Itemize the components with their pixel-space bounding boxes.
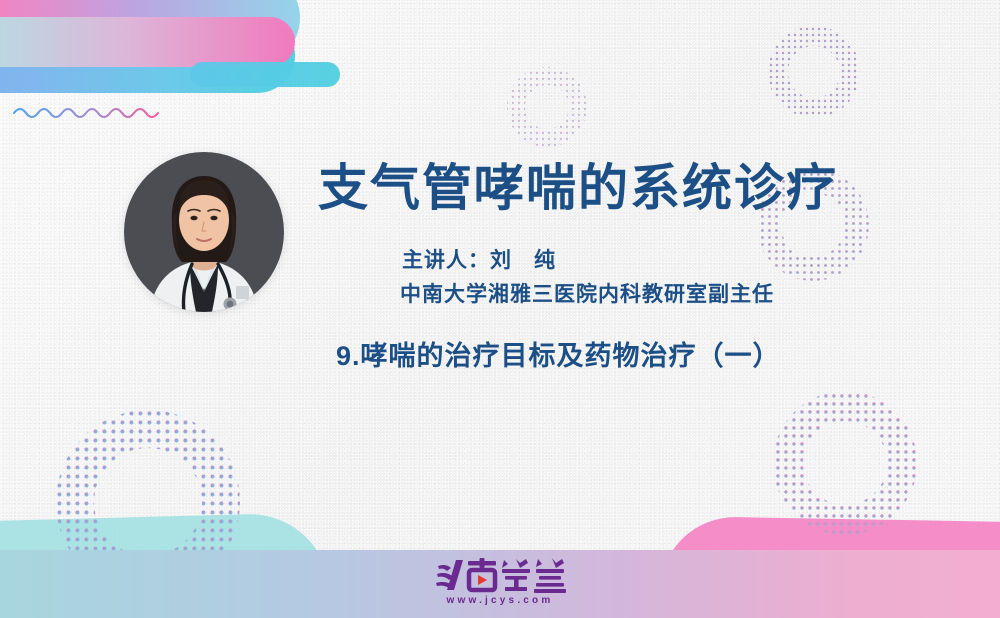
dotted-ring-icon-top-middle	[492, 52, 602, 162]
page-title: 支气管哮喘的系统诊疗	[318, 160, 918, 216]
lesson-title: 9.哮喘的治疗目标及药物治疗（一）	[336, 334, 918, 373]
slide-text-block: 支气管哮喘的系统诊疗 主讲人：刘 纯 中南大学湘雅三医院内科教研室副主任 9.哮…	[318, 160, 918, 373]
dotted-ring-icon-bottom-right	[750, 368, 940, 558]
jcys-logo-icon[interactable]	[434, 556, 566, 594]
doctor-portrait-icon	[124, 152, 284, 312]
speaker-affiliation: 中南大学湘雅三医院内科教研室副主任	[400, 278, 918, 308]
dotted-ring-icon-top-right	[750, 8, 878, 136]
decoration-pill-top-front	[0, 17, 295, 67]
wavy-line-icon	[12, 104, 162, 122]
brand-url[interactable]: www.jcys.com	[447, 595, 554, 606]
decoration-pill-top-small	[190, 62, 340, 87]
presentation-slide: 支气管哮喘的系统诊疗 主讲人：刘 纯 中南大学湘雅三医院内科教研室副主任 9.哮…	[0, 0, 1000, 618]
brand-footer-band: www.jcys.com	[0, 550, 1000, 618]
speaker-name: 主讲人：刘 纯	[402, 244, 918, 274]
speaker-avatar	[124, 152, 284, 312]
